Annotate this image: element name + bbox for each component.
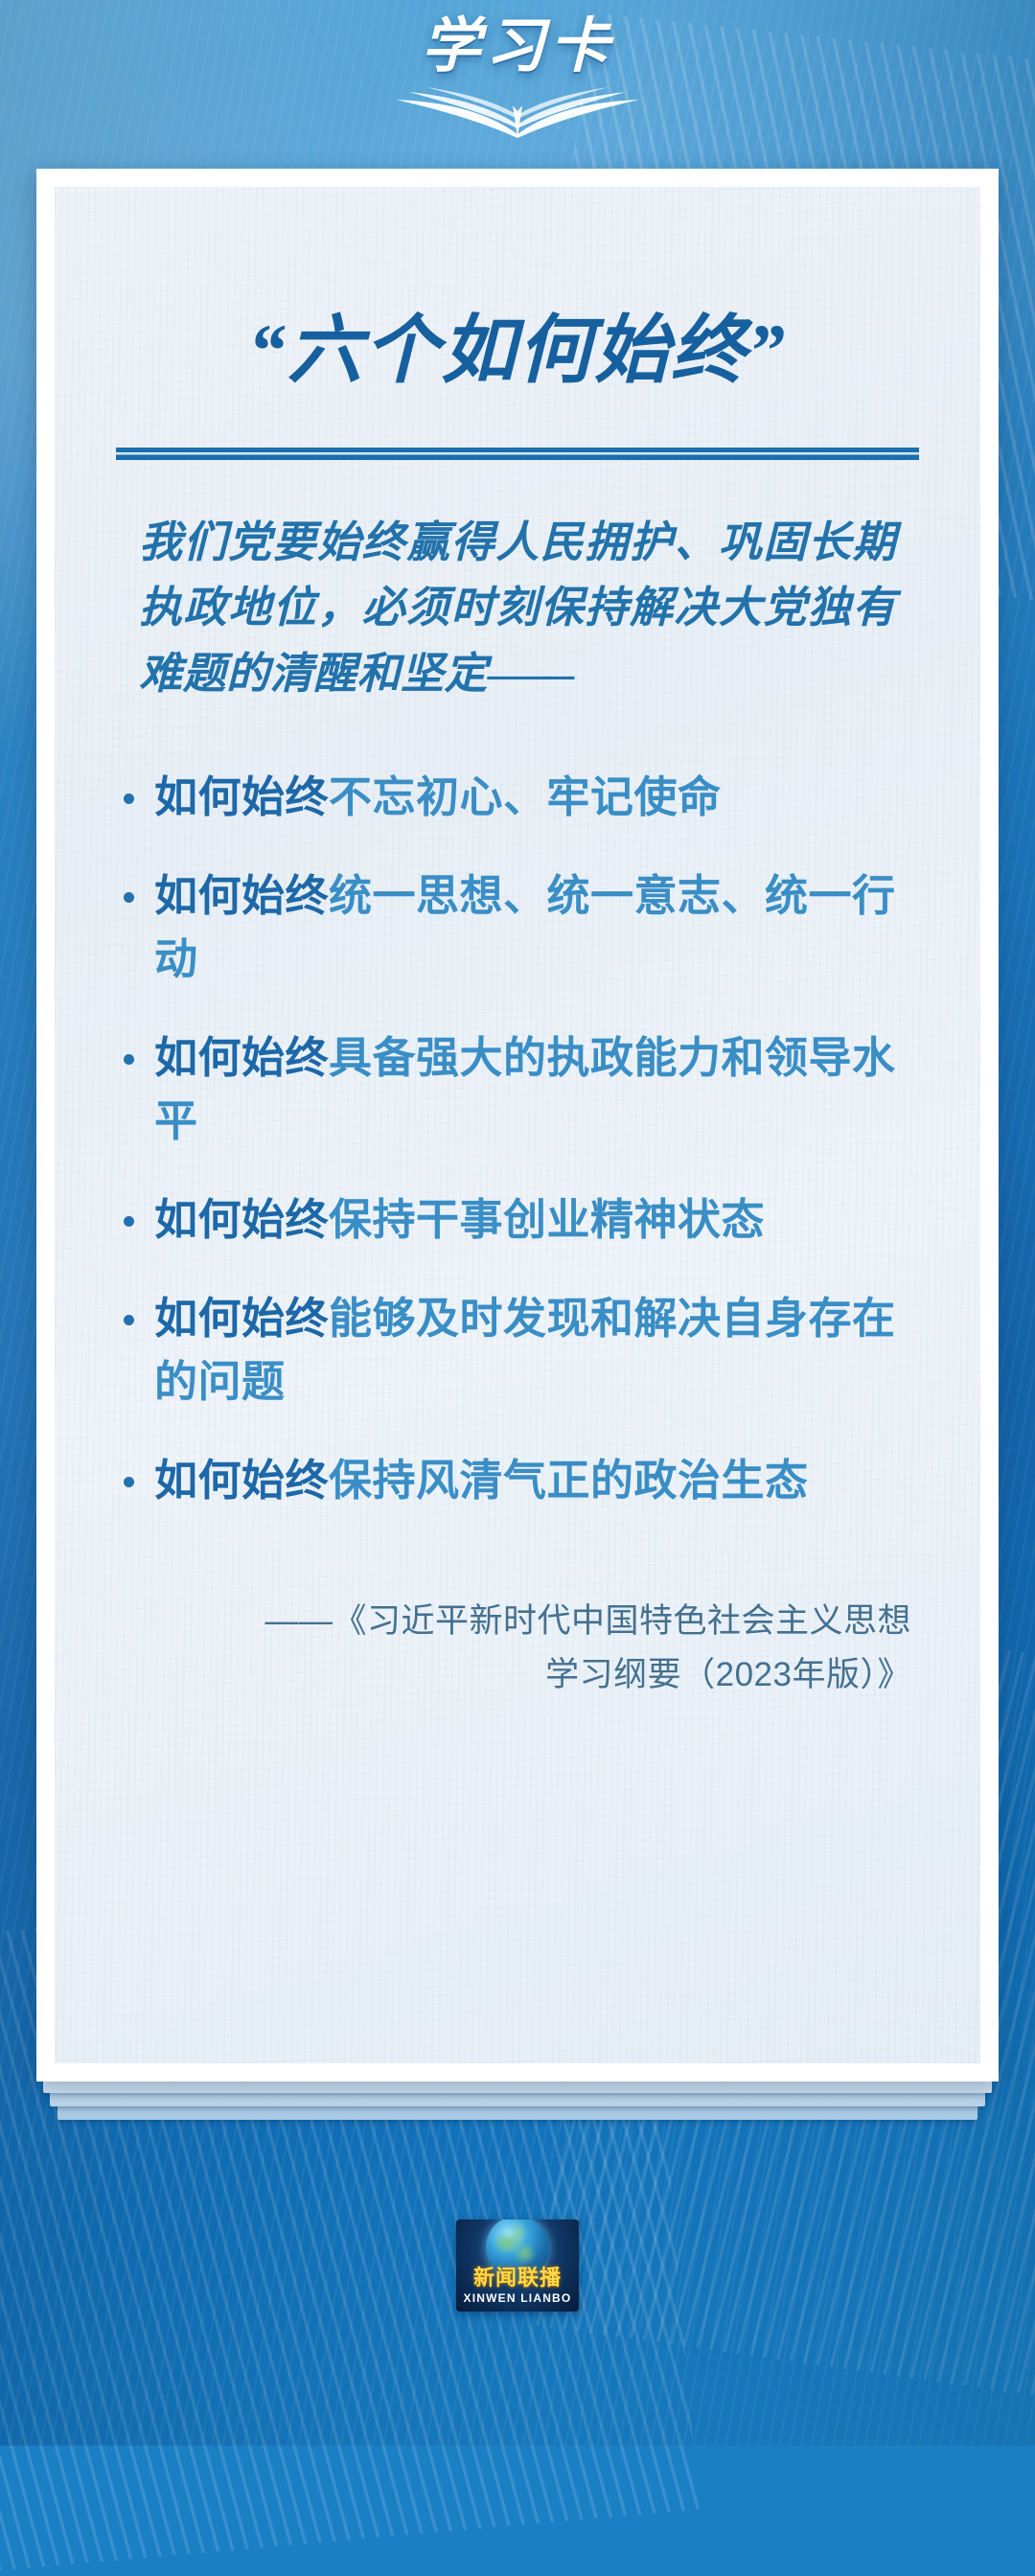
bullet-lead: 如何始终 (154, 1195, 329, 1244)
list-item: 如何始终保持风清气正的政治生态 (118, 1449, 917, 1513)
logo-label-cn: 新闻联播 (456, 2267, 579, 2288)
bullet-lead: 如何始终 (154, 1294, 329, 1343)
brand-title: 学习卡 (374, 17, 661, 77)
list-item: 如何始终能够及时发现和解决自身存在的问题 (118, 1287, 917, 1414)
bullet-dot-icon (124, 1477, 134, 1487)
list-item: 如何始终不忘初心、牢记使命 (118, 766, 917, 830)
list-item: 如何始终保持干事创业精神状态 (118, 1188, 917, 1253)
bullet-dot-icon (124, 1315, 134, 1325)
card-paper-surface: “六个如何始终” 我们党要始终赢得人民拥护、巩固长期执政地位，必须时刻保持解决大… (55, 187, 980, 2063)
card-stack: “六个如何始终” 我们党要始终赢得人民拥护、巩固长期执政地位，必须时刻保持解决大… (36, 169, 999, 2120)
brand-header: 学习卡 (0, 13, 1035, 140)
source-line-1: ——《习近平新时代中国特色社会主义思想 (172, 1595, 911, 1648)
content-card: “六个如何始终” 我们党要始终赢得人民拥护、巩固长期执政地位，必须时刻保持解决大… (36, 169, 999, 2081)
bullet-lead: 如何始终 (154, 1033, 329, 1082)
list-item: 如何始终具备强大的执政能力和领导水平 (118, 1026, 917, 1154)
source-line-2: 学习纲要（2023年版）》 (172, 1648, 911, 1702)
source-attribution: ——《习近平新时代中国特色社会主义思想 学习纲要（2023年版）》 (114, 1595, 921, 1702)
title-divider (116, 448, 919, 460)
bullet-dot-icon (124, 1054, 134, 1065)
intro-paragraph: 我们党要始终赢得人民拥护、巩固长期执政地位，必须时刻保持解决大党独有难题的清醒和… (114, 510, 921, 706)
list-item: 如何始终统一思想、统一意志、统一行动 (118, 864, 917, 992)
bullet-rest: 保持风清气正的政治生态 (329, 1456, 809, 1505)
bullet-dot-icon (124, 1216, 134, 1227)
bullet-list: 如何始终不忘初心、牢记使命 如何始终统一思想、统一意志、统一行动 如何始终具备强… (114, 766, 921, 1512)
bullet-dot-icon (124, 793, 134, 804)
bullet-lead: 如何始终 (154, 1456, 329, 1505)
bullet-lead: 如何始终 (154, 871, 329, 920)
bullet-rest: 不忘初心、牢记使命 (329, 772, 722, 821)
xinwen-lianbo-logo: 新闻联播 XINWEN LIANBO (456, 2219, 579, 2311)
bullet-rest: 保持干事创业精神状态 (329, 1195, 765, 1244)
page-title: “六个如何始终” (114, 310, 921, 392)
bullet-dot-icon (124, 892, 134, 903)
bullet-lead: 如何始终 (154, 772, 329, 821)
open-book-icon (388, 79, 647, 138)
logo-label-en: XINWEN LIANBO (456, 2292, 579, 2304)
